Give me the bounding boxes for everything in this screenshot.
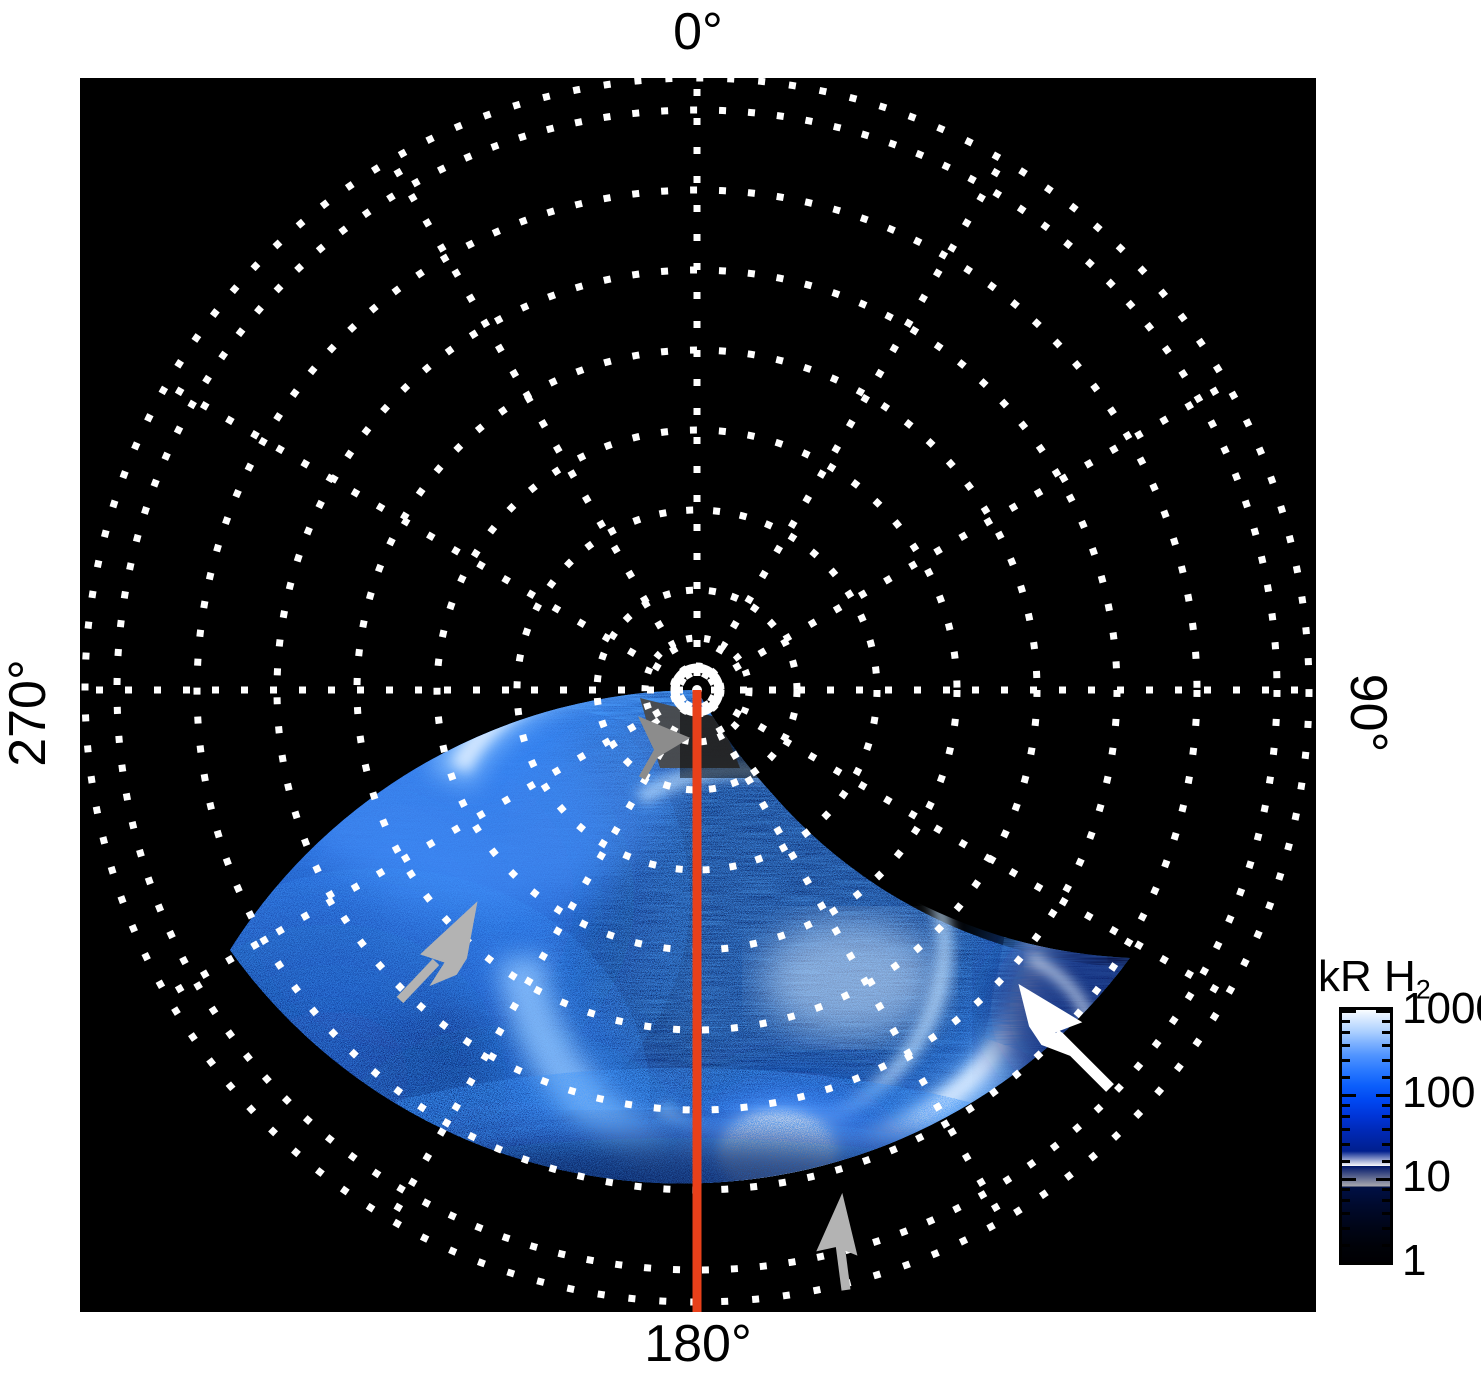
axis-label-90-deg: 90° bbox=[1342, 633, 1394, 793]
axis-label-0-deg: 0° bbox=[0, 6, 1396, 58]
axis-label-180-deg: 180° bbox=[0, 1318, 1396, 1370]
colorbar-minor-tick bbox=[1382, 1059, 1390, 1062]
colorbar-minor-tick bbox=[1342, 1143, 1350, 1146]
colorbar-label-100: 100 bbox=[1402, 1071, 1475, 1115]
colorbar-minor-tick bbox=[1342, 1104, 1350, 1107]
colorbar-minor-tick bbox=[1382, 1076, 1390, 1079]
colorbar-label-1: 1 bbox=[1402, 1239, 1426, 1283]
polar-plot-area bbox=[80, 78, 1316, 1312]
colorbar-tick-10-left bbox=[1342, 1178, 1356, 1181]
colorbar-tick-1000-right bbox=[1376, 1010, 1390, 1013]
colorbar: kR H2 bbox=[1318, 955, 1481, 1325]
colorbar-minor-tick bbox=[1382, 1244, 1390, 1247]
colorbar-label-10: 10 bbox=[1402, 1155, 1451, 1199]
colorbar-minor-tick bbox=[1342, 1212, 1350, 1215]
colorbar-minor-tick bbox=[1342, 1044, 1350, 1047]
colorbar-tick-1-left bbox=[1342, 1262, 1356, 1265]
colorbar-tick-1000-left bbox=[1342, 1010, 1356, 1013]
colorbar-minor-tick bbox=[1342, 1244, 1350, 1247]
colorbar-minor-tick bbox=[1382, 1128, 1390, 1131]
colorbar-minor-tick bbox=[1342, 1160, 1350, 1163]
colorbar-tick-100-left bbox=[1342, 1094, 1356, 1097]
colorbar-minor-tick bbox=[1342, 1227, 1350, 1230]
colorbar-minor-tick bbox=[1382, 1115, 1390, 1118]
colorbar-minor-tick bbox=[1382, 1020, 1390, 1023]
colorbar-minor-tick bbox=[1382, 1160, 1390, 1163]
colorbar-minor-tick bbox=[1382, 1044, 1390, 1047]
colorbar-gradient bbox=[1342, 1010, 1390, 1262]
colorbar-label-1000: 1000 bbox=[1402, 987, 1481, 1031]
colorbar-minor-tick bbox=[1382, 1031, 1390, 1034]
colorbar-minor-tick bbox=[1342, 1076, 1350, 1079]
colorbar-tick-100-right bbox=[1376, 1094, 1390, 1097]
colorbar-tick-1-right bbox=[1376, 1262, 1390, 1265]
colorbar-minor-tick bbox=[1382, 1199, 1390, 1202]
colorbar-minor-tick bbox=[1342, 1115, 1350, 1118]
colorbar-minor-tick bbox=[1342, 1199, 1350, 1202]
colorbar-minor-tick bbox=[1342, 1020, 1350, 1023]
colorbar-minor-tick bbox=[1342, 1031, 1350, 1034]
colorbar-minor-tick bbox=[1382, 1188, 1390, 1191]
colorbar-tick-10-right bbox=[1376, 1178, 1390, 1181]
colorbar-minor-tick bbox=[1382, 1143, 1390, 1146]
axis-label-270-deg: 270° bbox=[2, 633, 54, 793]
colorbar-minor-tick bbox=[1382, 1212, 1390, 1215]
colorbar-minor-tick bbox=[1342, 1188, 1350, 1191]
colorbar-minor-tick bbox=[1342, 1059, 1350, 1062]
colorbar-scale bbox=[1339, 1007, 1393, 1265]
colorbar-minor-tick bbox=[1382, 1104, 1390, 1107]
colorbar-minor-tick bbox=[1382, 1227, 1390, 1230]
colorbar-minor-tick bbox=[1342, 1128, 1350, 1131]
